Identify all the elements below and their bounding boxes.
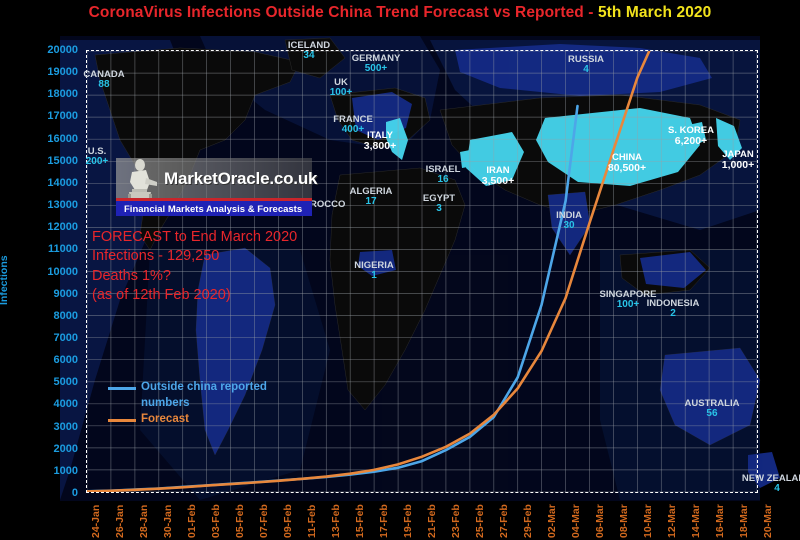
- legend-label: Outside china reported numbers: [141, 380, 291, 411]
- y-tick-label: 13000: [47, 199, 78, 211]
- y-tick-label: 15000: [47, 155, 78, 167]
- x-tick-label: 21-Feb: [426, 504, 438, 538]
- x-tick-label: 07-Feb: [258, 504, 270, 538]
- watermark-tagline: Financial Markets Analysis & Forecasts: [124, 204, 302, 215]
- legend-color-swatch: [108, 419, 136, 422]
- forecast-line-1: FORECAST to End March 2020: [92, 228, 297, 247]
- title-date: 5th March 2020: [598, 4, 711, 21]
- y-axis-title: Infections: [0, 255, 10, 305]
- y-tick-label: 4000: [54, 398, 78, 410]
- x-tick-label: 06-Mar: [594, 504, 606, 538]
- y-tick-label: 5000: [54, 376, 78, 388]
- x-tick-label: 04-Mar: [570, 504, 582, 538]
- x-tick-label: 12-Mar: [666, 504, 678, 538]
- y-tick-label: 1000: [54, 465, 78, 477]
- x-tick-label: 20-Mar: [762, 504, 774, 538]
- y-tick-label: 2000: [54, 443, 78, 455]
- forecast-line-3: Deaths 1%?: [92, 267, 297, 286]
- watermark: MarketOracle.co.uk Financial Markets Ana…: [116, 158, 312, 216]
- legend-label: Forecast: [141, 412, 189, 428]
- y-tick-label: 12000: [47, 221, 78, 233]
- y-tick-label: 11000: [48, 243, 78, 255]
- x-tick-label: 29-Feb: [522, 504, 534, 538]
- forecast-line-4: (as of 12th Feb 2020): [92, 286, 297, 305]
- x-tick-label: 27-Feb: [498, 504, 510, 538]
- x-tick-label: 28-Jan: [138, 505, 150, 538]
- oracle-figure-icon: [119, 156, 163, 204]
- y-tick-label: 14000: [47, 177, 78, 189]
- x-tick-label: 09-Feb: [282, 504, 294, 538]
- y-axis: Infections 20000190001800017000160001500…: [0, 50, 82, 493]
- x-tick-label: 03-Feb: [210, 504, 222, 538]
- x-tick-label: 02-Mar: [546, 504, 558, 538]
- x-tick-label: 14-Mar: [690, 504, 702, 538]
- x-tick-label: 18-Mar: [738, 504, 750, 538]
- x-tick-label: 25-Feb: [474, 504, 486, 538]
- y-tick-label: 0: [72, 487, 78, 499]
- x-tick-label: 11-Feb: [306, 505, 318, 538]
- x-tick-label: 19-Feb: [402, 504, 414, 538]
- forecast-annotation: FORECAST to End March 2020 Infections - …: [92, 228, 297, 305]
- y-tick-label: 8000: [54, 310, 78, 322]
- legend-item: Outside china reported numbers: [108, 380, 291, 411]
- y-tick-label: 9000: [54, 288, 78, 300]
- x-axis: 24-Jan26-Jan28-Jan30-Jan01-Feb03-Feb05-F…: [86, 496, 758, 540]
- x-tick-label: 01-Feb: [186, 504, 198, 538]
- y-tick-label: 18000: [47, 88, 78, 100]
- y-tick-label: 10000: [47, 266, 78, 278]
- y-tick-label: 6000: [54, 354, 78, 366]
- x-tick-label: 17-Feb: [378, 504, 390, 538]
- legend-color-swatch: [108, 387, 136, 390]
- x-tick-label: 15-Feb: [354, 504, 366, 538]
- x-tick-label: 16-Mar: [714, 504, 726, 538]
- forecast-line-2: Infections - 129,250: [92, 247, 297, 266]
- x-tick-label: 10-Mar: [642, 504, 654, 538]
- title-separator: -: [584, 4, 598, 21]
- watermark-name: MarketOracle.co.uk: [164, 169, 317, 189]
- y-tick-label: 20000: [47, 44, 78, 56]
- x-tick-label: 26-Jan: [114, 505, 126, 538]
- x-tick-label: 24-Jan: [90, 505, 102, 538]
- x-tick-label: 13-Feb: [330, 504, 342, 538]
- y-tick-label: 7000: [54, 332, 78, 344]
- x-tick-label: 08-Mar: [618, 504, 630, 538]
- x-tick-label: 23-Feb: [450, 504, 462, 538]
- y-tick-label: 19000: [47, 66, 78, 78]
- chart-legend: Outside china reported numbersForecast: [108, 380, 291, 429]
- x-tick-label: 05-Feb: [234, 504, 246, 538]
- title-main: CoronaVirus Infections Outside China Tre…: [89, 4, 584, 21]
- y-tick-label: 16000: [47, 133, 78, 145]
- x-tick-label: 30-Jan: [162, 505, 174, 538]
- legend-item: Forecast: [108, 412, 291, 428]
- page-title: CoronaVirus Infections Outside China Tre…: [0, 4, 800, 22]
- y-tick-label: 3000: [54, 421, 78, 433]
- y-tick-label: 17000: [47, 110, 78, 122]
- chart-screenshot: CoronaVirus Infections Outside China Tre…: [0, 0, 800, 540]
